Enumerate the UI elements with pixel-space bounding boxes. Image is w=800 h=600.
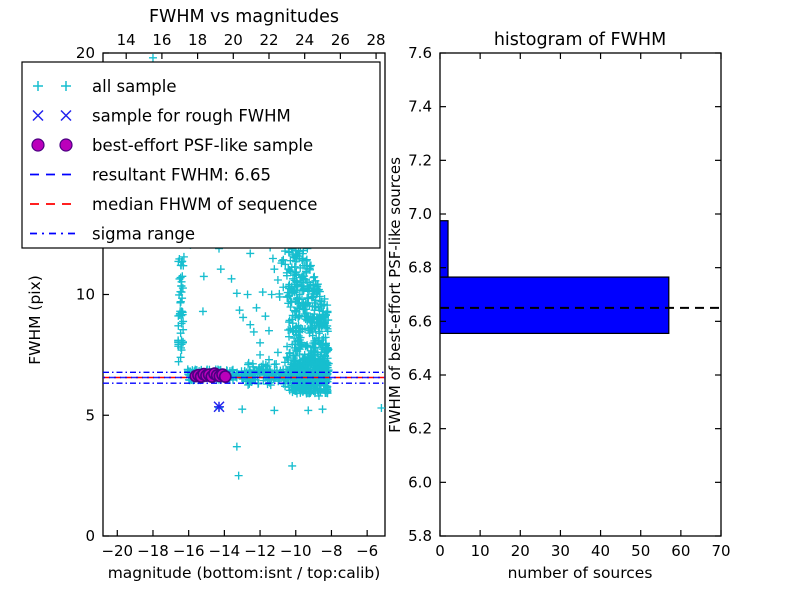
legend-item-label: all sample [92,77,177,96]
scatter-psf-sample [190,368,231,382]
tick-label: 14 [117,31,136,49]
tick-label: −18 [137,542,169,560]
left-panel-title: FWHM vs magnitudes [149,7,339,27]
legend-marker-dot-icon [32,139,44,151]
legend-item-label: resultant FWHM: 6.65 [92,166,271,185]
right-panel-title: histogram of FWHM [494,30,666,50]
tick-label: 30 [551,542,570,560]
tick-label: 70 [711,542,730,560]
legend: all samplesample for rough FWHMbest-effo… [22,62,380,248]
tick-label: −20 [101,542,133,560]
tick-label: −6 [356,542,378,560]
tick-label: 26 [331,31,350,49]
tick-label: −10 [280,542,312,560]
tick-label: 22 [259,31,278,49]
histogram-bar [440,221,448,277]
left-xaxis-label: magnitude (bottom:isnt / top:calib) [108,564,381,582]
tick-label: 0 [85,527,95,545]
tick-label: 6.8 [408,259,432,277]
legend-item-label: median FHWM of sequence [92,195,317,214]
histogram-bar [440,277,669,333]
tick-label: −8 [320,542,342,560]
legend-item-label: best-effort PSF-like sample [92,136,313,155]
tick-label: 60 [671,542,690,560]
tick-label: 5 [85,406,95,424]
tick-label: 50 [631,542,650,560]
tick-label: 20 [511,542,530,560]
left-yaxis-label: FWHM (pix) [26,275,44,365]
tick-label: 28 [367,31,386,49]
tick-label: 10 [76,286,95,304]
legend-item-label: sample for rough FWHM [92,107,291,126]
legend-box [22,62,380,248]
plot-svg: −20−18−16−14−12−10−8−6 1416182022242628 … [0,0,800,600]
tick-label: 6.4 [408,366,432,384]
tick-label: 24 [295,31,314,49]
marker-psf-dot [220,371,231,382]
tick-label: 6.6 [408,312,432,330]
tick-label: 7.4 [408,98,432,116]
tick-label: 7.2 [408,151,432,169]
tick-label: 16 [152,31,171,49]
right-xaxis-label: number of sources [508,564,653,582]
tick-label: 10 [471,542,490,560]
scatter-rough-sample [214,402,224,412]
tick-label: 0 [435,542,445,560]
tick-label: 6.0 [408,473,432,491]
tick-label: 18 [188,31,207,49]
figure-canvas: −20−18−16−14−12−10−8−6 1416182022242628 … [0,0,800,600]
legend-item-label: sigma range [92,225,195,244]
tick-label: −16 [173,542,205,560]
tick-label: 6.2 [408,420,432,438]
tick-label: 40 [591,542,610,560]
right-yaxis-label: FWHM of best-effort PSF-like sources [386,157,404,433]
tick-label: 20 [76,44,95,62]
tick-label: 7.6 [408,44,432,62]
tick-label: 5.8 [408,527,432,545]
legend-marker-dot-icon [60,139,72,151]
tick-label: −14 [209,542,241,560]
tick-label: −12 [244,542,276,560]
tick-label: 7.0 [408,205,432,223]
tick-label: 20 [224,31,243,49]
